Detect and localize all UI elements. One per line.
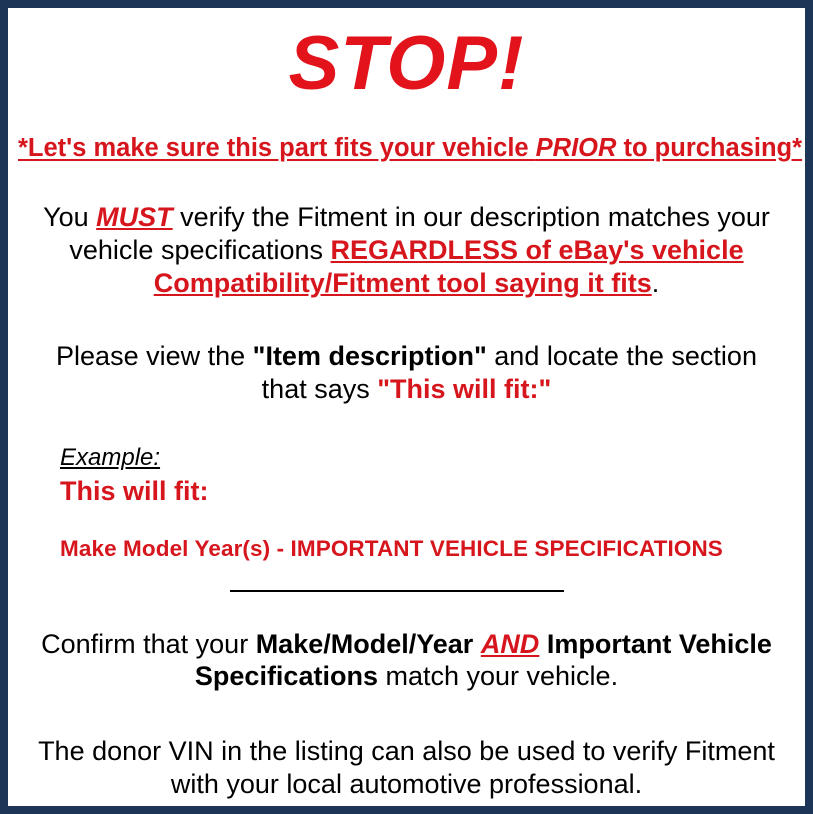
notice-inner: STOP! *Let's make sure this part fits yo… [8, 26, 805, 814]
confirm-paragraph: Confirm that your Make/Model/Year AND Im… [18, 628, 795, 694]
item-description-emphasis: "Item description" [253, 341, 487, 371]
this-will-fit-quote: "This will fit:" [377, 374, 551, 404]
must-lead: You [43, 202, 96, 232]
confirm-lead: Confirm that your [41, 629, 256, 659]
please-view-paragraph: Please view the "Item description" and l… [18, 340, 795, 406]
subtitle-before: *Let's make sure this part fits your veh… [18, 134, 536, 162]
vin-paragraph: The donor VIN in the listing can also be… [18, 735, 795, 801]
divider-wrap [18, 584, 795, 598]
subtitle-after: to purchasing* [616, 134, 802, 162]
must-emphasis: MUST [96, 202, 173, 232]
confirm-end: match your vehicle. [378, 661, 618, 691]
example-sample-line: Make Model Year(s) - IMPORTANT VEHICLE S… [60, 535, 795, 562]
subtitle-line: *Let's make sure this part fits your veh… [18, 134, 795, 163]
example-label: Example: [60, 444, 160, 473]
example-heading: This will fit: [60, 475, 795, 509]
subtitle-prior: PRIOR [536, 134, 617, 162]
fitment-notice-card: STOP! *Let's make sure this part fits yo… [0, 0, 813, 814]
and-emphasis: AND [481, 629, 540, 659]
stop-headline: STOP! [18, 26, 795, 102]
example-block: Example: This will fit: Make Model Year(… [18, 444, 795, 562]
please-lead: Please view the [56, 341, 253, 371]
must-paragraph: You MUST verify the Fitment in our descr… [18, 201, 795, 300]
section-divider [230, 590, 564, 592]
must-end: . [652, 268, 660, 298]
make-model-year-emphasis: Make/Model/Year [256, 629, 474, 659]
